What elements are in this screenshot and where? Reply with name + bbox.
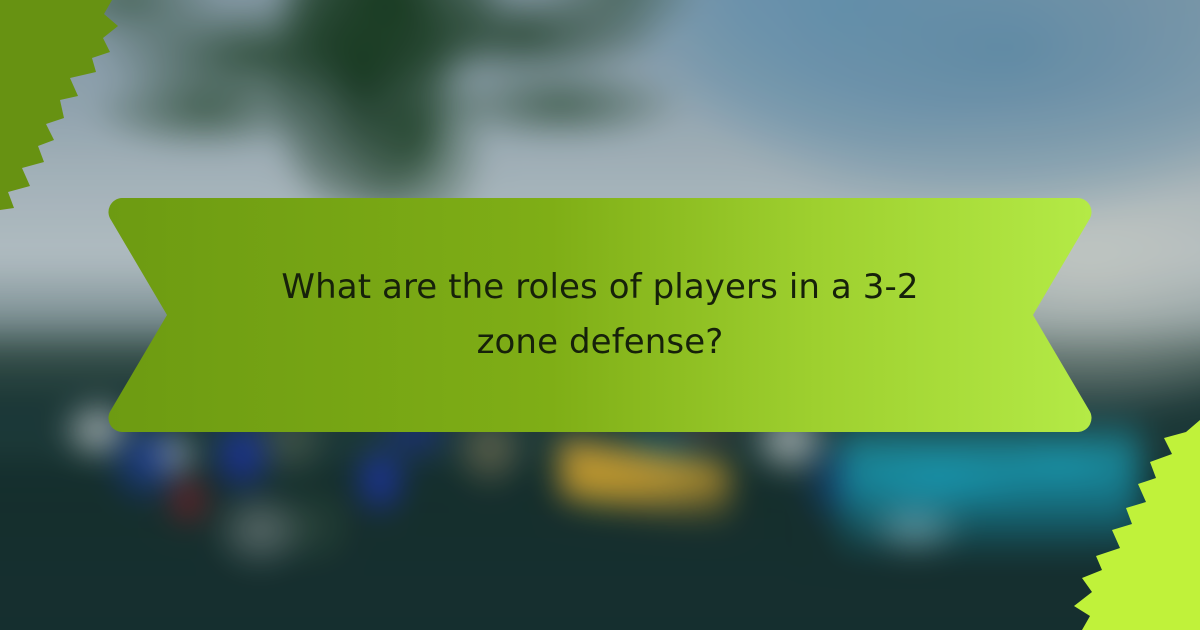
background-teal-barrier <box>840 415 1140 555</box>
background-yellow-banner <box>560 439 730 524</box>
banner-text-wrap: What are the roles of players in a 3-2 z… <box>108 198 1092 432</box>
question-title: What are the roles of players in a 3-2 z… <box>240 260 960 370</box>
question-banner: What are the roles of players in a 3-2 z… <box>108 198 1092 432</box>
share-card: What are the roles of players in a 3-2 z… <box>0 0 1200 630</box>
